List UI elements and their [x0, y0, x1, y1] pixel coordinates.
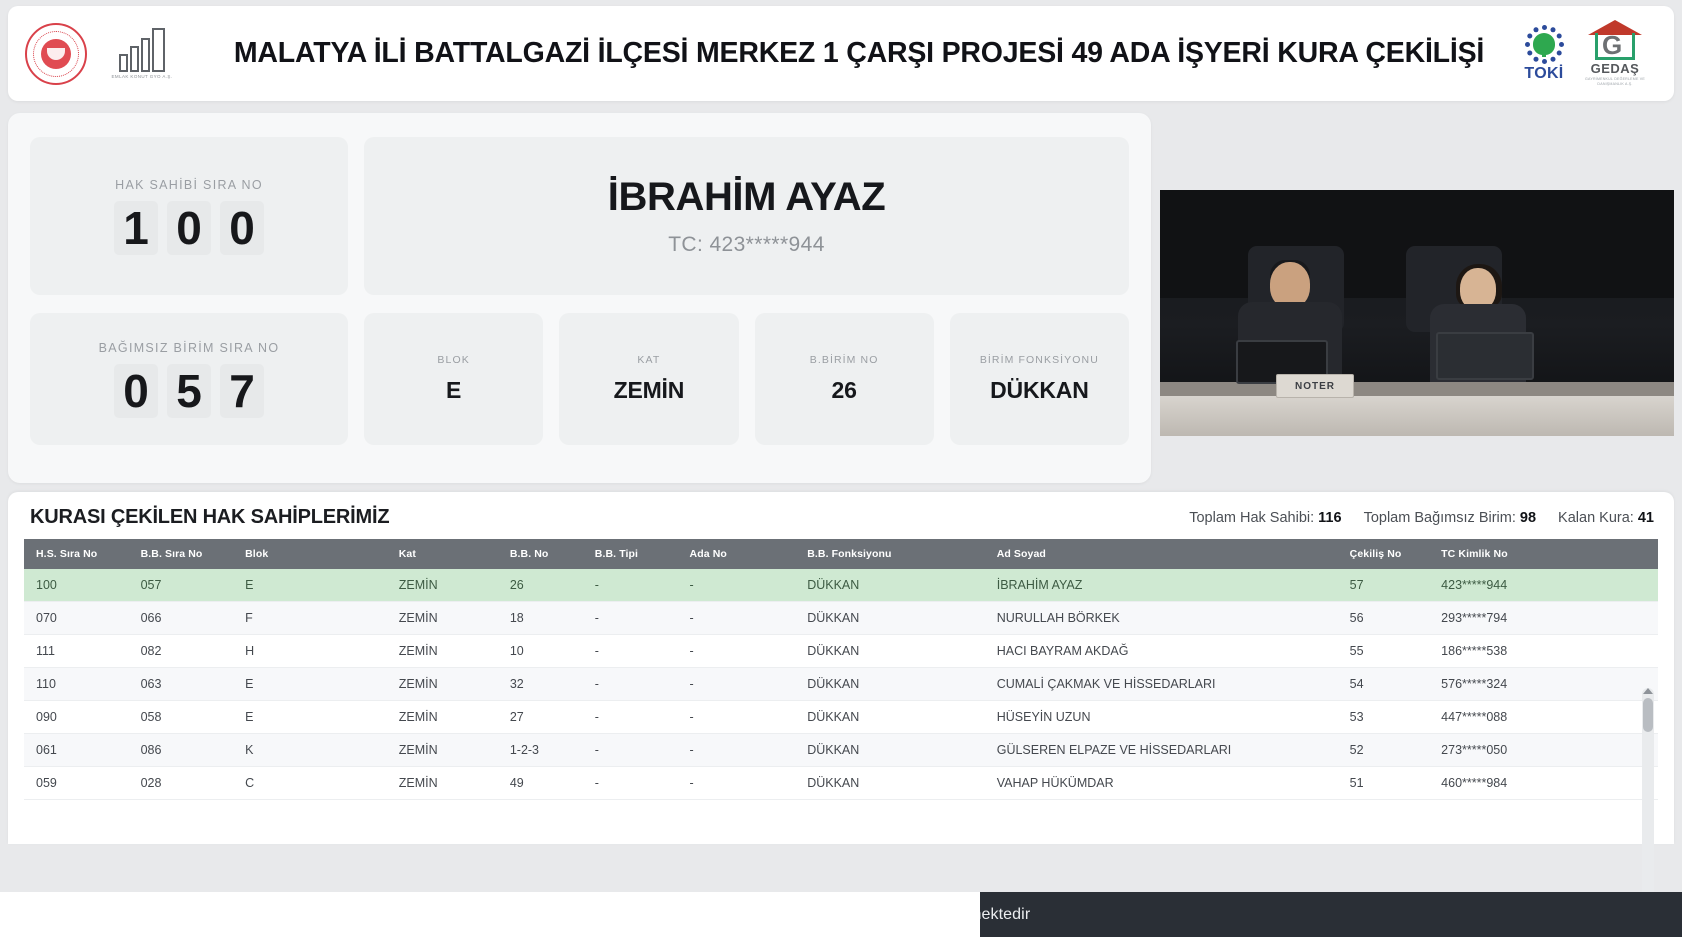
cell-blok: K [233, 734, 387, 767]
cell-ad-soyad: NURULLAH BÖRKEK [985, 602, 1338, 635]
cell-ada-no: - [678, 602, 796, 635]
bbirim-no-label: B.BİRİM NO [810, 354, 879, 366]
cell-bb-fonksiyonu: DÜKKAN [795, 701, 985, 734]
cell-bb-sira-no: 063 [129, 668, 234, 701]
table-row[interactable]: 070066FZEMİN18--DÜKKANNURULLAH BÖRKEK562… [24, 602, 1658, 635]
cell-bb-no: 1-2-3 [498, 734, 583, 767]
cell-bb-fonksiyonu: DÜKKAN [795, 635, 985, 668]
results-stats: Toplam Hak Sahibi: 116 Toplam Bağımsız B… [1189, 510, 1654, 526]
gedas-subtitle: GAYRİMENKUL DEĞERLEME VE DANIŞMANLIK A.Ş… [1578, 77, 1652, 88]
toki-logo: TOKİ [1524, 24, 1564, 83]
draw-row-bottom: BAĞIMSIZ BİRİM SIRA NO 057 BLOK E KAT ZE… [30, 313, 1129, 445]
blok-label: BLOK [437, 354, 469, 366]
table-row[interactable]: 100057EZEMİN26--DÜKKANİBRAHİM AYAZ57423*… [24, 569, 1658, 602]
cell-bb-fonksiyonu: DÜKKAN [795, 668, 985, 701]
digit: 7 [220, 364, 264, 418]
cell-bb-no: 49 [498, 767, 583, 800]
cell-bb-no: 26 [498, 569, 583, 602]
cell-bb-sira-no: 082 [129, 635, 234, 668]
cell-blok: C [233, 767, 387, 800]
cell-cekilis-no: 55 [1338, 635, 1430, 668]
cell-blok: E [233, 701, 387, 734]
col-bb-fonksiyonu[interactable]: B.B. Fonksiyonu [795, 539, 985, 569]
toki-mark-icon [1524, 24, 1564, 64]
cell-bb-no: 27 [498, 701, 583, 734]
birim-fonksiyonu-card: BİRİM FONKSİYONU DÜKKAN [950, 313, 1129, 445]
col-cekilis-no[interactable]: Çekiliş No [1338, 539, 1430, 569]
scroll-up-arrow-icon[interactable] [1643, 688, 1653, 694]
cell-bb-no: 32 [498, 668, 583, 701]
table-row[interactable]: 059028CZEMİN49--DÜKKANVAHAP HÜKÜMDAR5146… [24, 767, 1658, 800]
cell-blok: E [233, 668, 387, 701]
kat-card: KAT ZEMİN [559, 313, 738, 445]
results-table-header: H.S. Sıra No B.B. Sıra No Blok Kat B.B. … [24, 539, 1658, 569]
cell-ada-no: - [678, 767, 796, 800]
cell-hs-sira-no: 059 [24, 767, 129, 800]
cell-blok: F [233, 602, 387, 635]
header-logos-right: TOKİ G GEDAŞ GAYRİMENKUL DEĞERLEME VE DA… [1524, 16, 1674, 92]
cell-tc-kimlik-no: 423*****944 [1429, 569, 1658, 602]
toki-tree-icon [1533, 33, 1555, 55]
results-scrollbar[interactable] [1642, 688, 1654, 910]
digit: 0 [114, 364, 158, 418]
blok-value: E [446, 377, 461, 404]
birim-fonksiyonu-value: DÜKKAN [990, 377, 1088, 404]
cell-hs-sira-no: 111 [24, 635, 129, 668]
bagimsiz-birim-sira-no-digits: 057 [114, 364, 264, 418]
hak-sahibi-sira-no-card: HAK SAHİBİ SIRA NO 100 [30, 137, 348, 295]
col-kat[interactable]: Kat [387, 539, 498, 569]
scrollbar-thumb[interactable] [1643, 698, 1653, 732]
current-draw-panel: HAK SAHİBİ SIRA NO 100 İBRAHİM AYAZ TC: … [8, 113, 1151, 483]
cell-bb-fonksiyonu: DÜKKAN [795, 602, 985, 635]
stat-label: Toplam Hak Sahibi: [1189, 510, 1314, 526]
cell-tc-kimlik-no: 576*****324 [1429, 668, 1658, 701]
cell-tc-kimlik-no: 447*****088 [1429, 701, 1658, 734]
cell-hs-sira-no: 070 [24, 602, 129, 635]
cell-bb-sira-no: 086 [129, 734, 234, 767]
digit: 5 [167, 364, 211, 418]
emlak-konut-caption: EMLAK KONUT GYO A.Ş. [112, 74, 173, 81]
cell-tc-kimlik-no: 273*****050 [1429, 734, 1658, 767]
cell-hs-sira-no: 061 [24, 734, 129, 767]
tc-ministry-seal-icon [25, 23, 87, 85]
cell-bb-tipi: - [583, 635, 678, 668]
col-ada-no[interactable]: Ada No [678, 539, 796, 569]
cell-bb-sira-no: 028 [129, 767, 234, 800]
cell-cekilis-no: 57 [1338, 569, 1430, 602]
gedas-logo: G GEDAŞ GAYRİMENKUL DEĞERLEME VE DANIŞMA… [1578, 16, 1652, 92]
page-header: EMLAK KONUT GYO A.Ş. MALATYA İLİ BATTALG… [8, 6, 1674, 101]
results-table-title: KURASI ÇEKİLEN HAK SAHİPLERİMİZ [30, 506, 389, 529]
cell-kat: ZEMİN [387, 602, 498, 635]
hak-sahibi-sira-no-label: HAK SAHİBİ SIRA NO [115, 178, 263, 192]
bbirim-no-value: 26 [832, 377, 857, 404]
stat-label: Kalan Kura: [1558, 510, 1634, 526]
kat-value: ZEMİN [614, 377, 685, 404]
table-row[interactable]: 090058EZEMİN27--DÜKKANHÜSEYİN UZUN53447*… [24, 701, 1658, 734]
cell-cekilis-no: 52 [1338, 734, 1430, 767]
cell-ad-soyad: İBRAHİM AYAZ [985, 569, 1338, 602]
cell-kat: ZEMİN [387, 569, 498, 602]
stat-label: Toplam Bağımsız Birim: [1364, 510, 1516, 526]
stat-toplam-bagimsiz-birim: Toplam Bağımsız Birim: 98 [1364, 510, 1536, 526]
noter-nameplate: NOTER [1276, 374, 1354, 398]
buildings-icon [119, 26, 165, 72]
cell-cekilis-no: 53 [1338, 701, 1430, 734]
kat-label: KAT [637, 354, 660, 366]
bbirim-no-card: B.BİRİM NO 26 [755, 313, 934, 445]
cell-bb-tipi: - [583, 734, 678, 767]
emlak-konut-logo: EMLAK KONUT GYO A.Ş. [104, 26, 180, 81]
cell-blok: H [233, 635, 387, 668]
cell-ad-soyad: CUMALİ ÇAKMAK VE HİSSEDARLARI [985, 668, 1338, 701]
footer-left-white-strip [0, 892, 980, 937]
cell-bb-sira-no: 057 [129, 569, 234, 602]
birim-fonksiyonu-label: BİRİM FONKSİYONU [980, 354, 1099, 366]
winner-name-card: İBRAHİM AYAZ TC: 423*****944 [364, 137, 1129, 295]
cell-ada-no: - [678, 701, 796, 734]
cell-bb-sira-no: 058 [129, 701, 234, 734]
cell-bb-no: 18 [498, 602, 583, 635]
results-table: H.S. Sıra No B.B. Sıra No Blok Kat B.B. … [24, 539, 1658, 800]
cell-bb-tipi: - [583, 701, 678, 734]
cell-hs-sira-no: 110 [24, 668, 129, 701]
winner-name: İBRAHİM AYAZ [608, 175, 885, 219]
table-row[interactable]: 061086KZEMİN1-2-3--DÜKKANGÜLSEREN ELPAZE… [24, 734, 1658, 767]
cell-bb-tipi: - [583, 767, 678, 800]
bagimsiz-birim-sira-no-card: BAĞIMSIZ BİRİM SIRA NO 057 [30, 313, 348, 445]
cell-tc-kimlik-no: 460*****984 [1429, 767, 1658, 800]
results-table-head: H.S. Sıra No B.B. Sıra No Blok Kat B.B. … [24, 539, 1658, 569]
cell-bb-sira-no: 066 [129, 602, 234, 635]
cell-bb-fonksiyonu: DÜKKAN [795, 734, 985, 767]
toki-label: TOKİ [1524, 65, 1563, 83]
cell-tc-kimlik-no: 293*****794 [1429, 602, 1658, 635]
cell-hs-sira-no: 100 [24, 569, 129, 602]
col-blok[interactable]: Blok [233, 539, 387, 569]
digit: 0 [220, 201, 264, 255]
cell-bb-tipi: - [583, 602, 678, 635]
stat-kalan-kura: Kalan Kura: 41 [1558, 510, 1654, 526]
digit: 0 [167, 201, 211, 255]
seal-core-icon [41, 39, 71, 69]
stat-toplam-hak-sahibi: Toplam Hak Sahibi: 116 [1189, 510, 1341, 526]
cell-ad-soyad: HÜSEYİN UZUN [985, 701, 1338, 734]
col-ad-soyad[interactable]: Ad Soyad [985, 539, 1338, 569]
stat-value: 41 [1638, 510, 1654, 526]
cell-ada-no: - [678, 734, 796, 767]
cell-cekilis-no: 54 [1338, 668, 1430, 701]
col-bb-no[interactable]: B.B. No [498, 539, 583, 569]
cell-ad-soyad: VAHAP HÜKÜMDAR [985, 767, 1338, 800]
cell-kat: ZEMİN [387, 635, 498, 668]
gedas-label: GEDAŞ [1591, 61, 1640, 76]
cell-bb-tipi: - [583, 668, 678, 701]
col-bb-sira-no[interactable]: B.B. Sıra No [129, 539, 234, 569]
cell-kat: ZEMİN [387, 767, 498, 800]
gedas-house-icon: G [1588, 20, 1642, 60]
stat-value: 116 [1318, 510, 1341, 526]
col-bb-tipi[interactable]: B.B. Tipi [583, 539, 678, 569]
cell-cekilis-no: 51 [1338, 767, 1430, 800]
stat-value: 98 [1520, 510, 1536, 526]
page-title: MALATYA İLİ BATTALGAZİ İLÇESİ MERKEZ 1 Ç… [180, 37, 1524, 70]
ministry-seal-logo [8, 23, 104, 85]
cell-kat: ZEMİN [387, 668, 498, 701]
draw-row-top: HAK SAHİBİ SIRA NO 100 İBRAHİM AYAZ TC: … [30, 137, 1129, 295]
table-row[interactable]: 110063EZEMİN32--DÜKKANCUMALİ ÇAKMAK VE H… [24, 668, 1658, 701]
app-root: EMLAK KONUT GYO A.Ş. MALATYA İLİ BATTALG… [0, 0, 1682, 937]
cell-hs-sira-no: 090 [24, 701, 129, 734]
results-table-header-row: KURASI ÇEKİLEN HAK SAHİPLERİMİZ Toplam H… [24, 506, 1658, 539]
blok-card: BLOK E [364, 313, 543, 445]
cell-bb-tipi: - [583, 569, 678, 602]
cell-kat: ZEMİN [387, 701, 498, 734]
cell-cekilis-no: 56 [1338, 602, 1430, 635]
cell-ada-no: - [678, 668, 796, 701]
results-table-body: 100057EZEMİN26--DÜKKANİBRAHİM AYAZ57423*… [24, 569, 1658, 800]
noter-live-video: NOTER [1160, 190, 1674, 436]
hak-sahibi-sira-no-digits: 100 [114, 201, 264, 255]
cell-ada-no: - [678, 635, 796, 668]
cell-kat: ZEMİN [387, 734, 498, 767]
cell-blok: E [233, 569, 387, 602]
cell-bb-fonksiyonu: DÜKKAN [795, 767, 985, 800]
laptop-icon [1436, 332, 1534, 380]
winner-tc: TC: 423*****944 [668, 233, 825, 257]
cell-ad-soyad: GÜLSEREN ELPAZE VE HİSSEDARLARI [985, 734, 1338, 767]
cell-tc-kimlik-no: 186*****538 [1429, 635, 1658, 668]
cell-ada-no: - [678, 569, 796, 602]
col-tc-kimlik-no[interactable]: TC Kimlik No [1429, 539, 1658, 569]
results-table-panel: KURASI ÇEKİLEN HAK SAHİPLERİMİZ Toplam H… [8, 492, 1674, 844]
bagimsiz-birim-sira-no-label: BAĞIMSIZ BİRİM SIRA NO [99, 341, 280, 355]
col-hs-sira-no[interactable]: H.S. Sıra No [24, 539, 129, 569]
cell-bb-no: 10 [498, 635, 583, 668]
cell-bb-fonksiyonu: DÜKKAN [795, 569, 985, 602]
table-row[interactable]: 111082HZEMİN10--DÜKKANHACI BAYRAM AKDAĞ5… [24, 635, 1658, 668]
digit: 1 [114, 201, 158, 255]
cell-ad-soyad: HACI BAYRAM AKDAĞ [985, 635, 1338, 668]
